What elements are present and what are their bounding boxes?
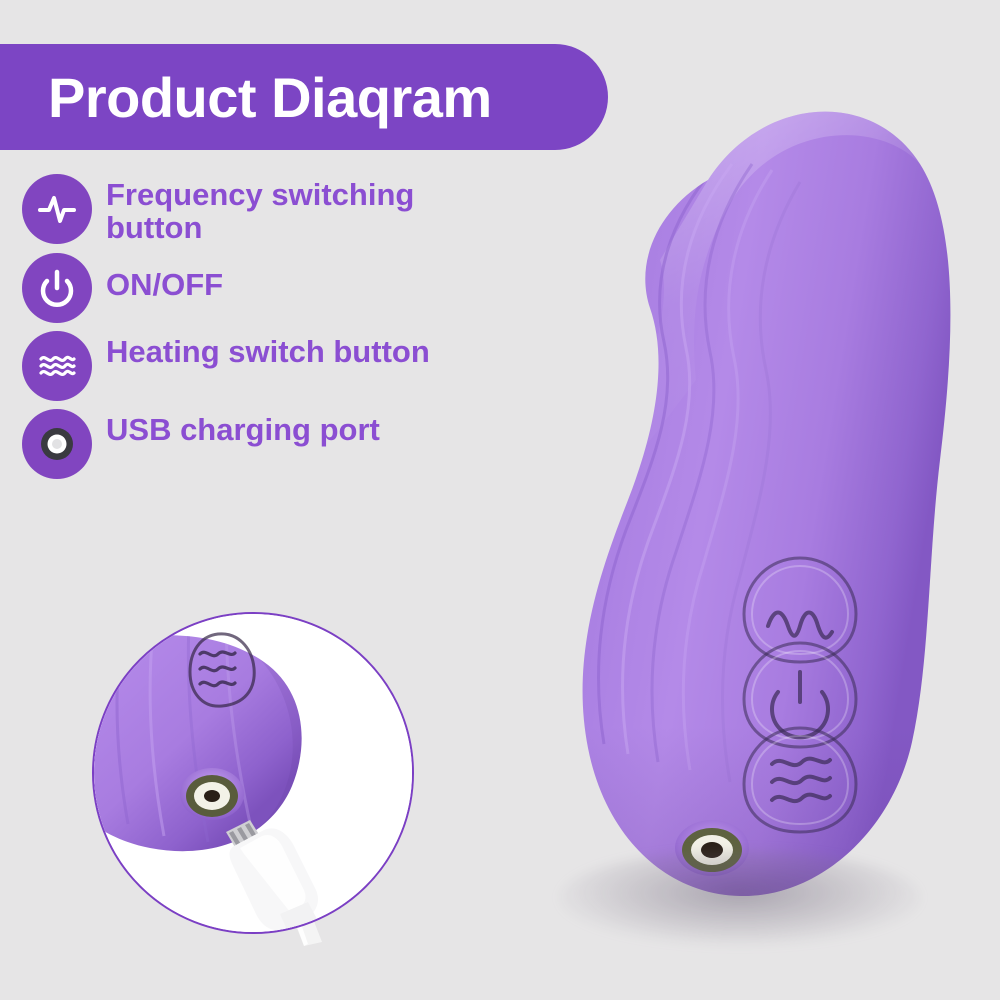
legend-item-onoff[interactable]: ON/OFF [22,253,532,323]
inset-content [94,614,412,932]
legend-item-label: USB charging port [106,409,380,447]
heat-waves-icon [22,331,92,401]
product-drop-shadow [560,850,920,945]
power-icon [22,253,92,323]
legend-item-usb[interactable]: USB charging port [22,409,532,479]
product-body-svg [500,60,1000,960]
legend-list: Frequency switching button ON/OFF Heatin… [22,174,532,487]
product-illustration [500,60,1000,960]
legend-item-heating[interactable]: Heating switch button [22,331,532,401]
usb-port-icon [22,409,92,479]
charging-port-detail-inset [92,612,414,934]
legend-item-frequency[interactable]: Frequency switching button [22,174,532,245]
inset-charging-port[interactable] [180,768,244,820]
title-banner: Product Diaqram [0,44,608,150]
legend-item-label: Frequency switching button [106,174,506,245]
product-diagram-page: Product Diaqram Frequency switching butt… [0,0,1000,1000]
legend-item-label: ON/OFF [106,253,223,302]
legend-item-label: Heating switch button [106,331,430,369]
page-title: Product Diaqram [48,65,492,130]
pulse-waveform-icon [22,174,92,244]
